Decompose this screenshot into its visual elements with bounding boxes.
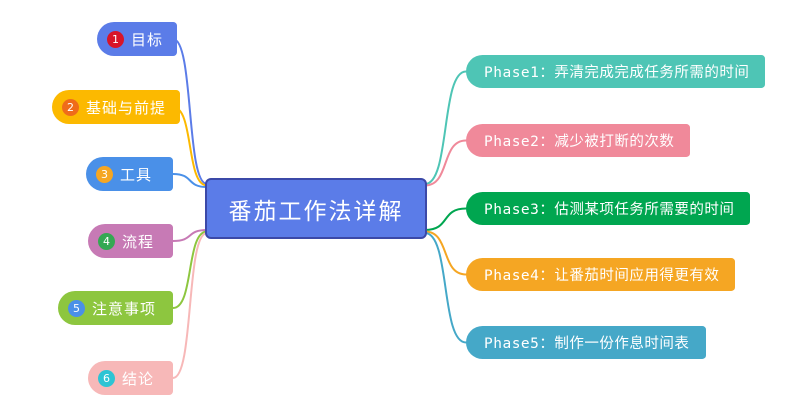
right-branch-label: Phase3：估测某项任务所需要的时间 — [484, 198, 734, 219]
connector-right-2 — [425, 141, 466, 186]
left-branch-node[interactable]: 2基础与前提 — [52, 90, 180, 124]
branch-number-badge: 6 — [98, 370, 115, 387]
branch-number-badge: 4 — [98, 233, 115, 250]
left-branch-label: 注意事项 — [92, 298, 156, 319]
right-branch-node[interactable]: Phase5：制作一份作息时间表 — [466, 326, 706, 359]
connector-left-5 — [173, 232, 207, 309]
branch-number-badge: 2 — [62, 99, 79, 116]
right-branch-label: Phase4：让番茄时间应用得更有效 — [484, 264, 719, 285]
mindmap-canvas: 番茄工作法详解 1目标2基础与前提3工具4流程5注意事项6结论 Phase1：弄… — [0, 0, 800, 417]
right-branch-label: Phase2：减少被打断的次数 — [484, 130, 674, 151]
right-branch-node[interactable]: Phase1：弄清完成完成任务所需的时间 — [466, 55, 765, 88]
connector-right-1 — [425, 72, 466, 185]
right-branch-node[interactable]: Phase2：减少被打断的次数 — [466, 124, 690, 157]
left-branch-node[interactable]: 5注意事项 — [58, 291, 173, 325]
left-branch-label: 目标 — [131, 29, 163, 50]
branch-number-badge: 3 — [96, 166, 113, 183]
central-node-label: 番茄工作法详解 — [229, 192, 404, 226]
connector-left-4 — [173, 230, 207, 241]
connector-right-4 — [425, 232, 466, 275]
connector-right-3 — [425, 209, 466, 231]
right-branch-node[interactable]: Phase4：让番茄时间应用得更有效 — [466, 258, 735, 291]
right-branch-label: Phase5：制作一份作息时间表 — [484, 332, 689, 353]
central-node[interactable]: 番茄工作法详解 — [205, 178, 427, 239]
connector-left-3 — [173, 174, 207, 187]
left-branch-label: 工具 — [120, 164, 152, 185]
connector-left-6 — [173, 233, 207, 378]
left-branch-label: 基础与前提 — [86, 97, 166, 118]
left-branch-label: 流程 — [122, 231, 154, 252]
left-branch-label: 结论 — [122, 368, 154, 389]
left-branch-node[interactable]: 3工具 — [86, 157, 173, 191]
left-branch-node[interactable]: 6结论 — [88, 361, 173, 395]
connector-right-5 — [425, 233, 466, 343]
right-branch-label: Phase1：弄清完成完成任务所需的时间 — [484, 61, 749, 82]
right-branch-node[interactable]: Phase3：估测某项任务所需要的时间 — [466, 192, 750, 225]
left-branch-node[interactable]: 1目标 — [97, 22, 177, 56]
left-branch-node[interactable]: 4流程 — [88, 224, 173, 258]
branch-number-badge: 1 — [107, 31, 124, 48]
branch-number-badge: 5 — [68, 300, 85, 317]
